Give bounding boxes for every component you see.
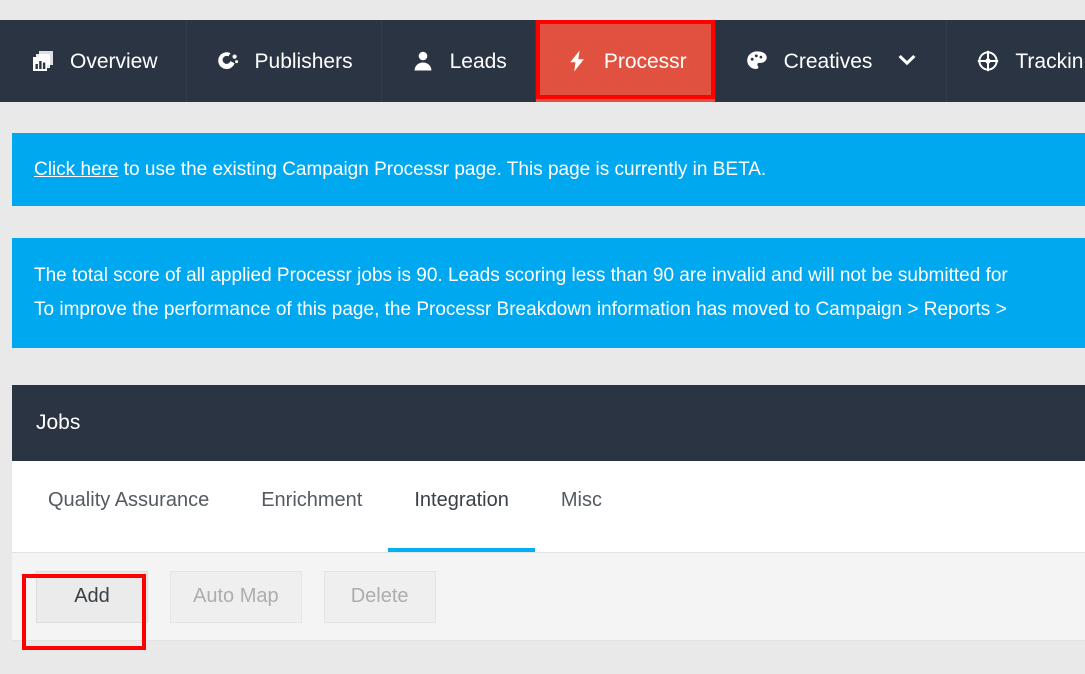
nav-item-overview[interactable]: Overview xyxy=(0,20,187,102)
tab-misc[interactable]: Misc xyxy=(535,461,628,552)
delete-button[interactable]: Delete xyxy=(324,571,436,623)
chevron-down-icon[interactable] xyxy=(896,54,918,68)
tab-label: Integration xyxy=(414,489,509,511)
nav-item-label: Trackin xyxy=(1015,51,1083,72)
nav-item-label: Publishers xyxy=(255,51,353,72)
score-notice-line-2: To improve the performance of this page,… xyxy=(34,298,1075,322)
crosshair-target-icon xyxy=(975,48,1001,74)
jobs-toolbar: Add Auto Map Delete xyxy=(12,553,1085,641)
nav-item-creatives[interactable]: Creatives xyxy=(716,20,948,102)
nav-item-publishers[interactable]: Publishers xyxy=(187,20,382,102)
person-icon xyxy=(410,48,436,74)
jobs-tab-bar: Quality Assurance Enrichment Integration… xyxy=(12,461,1085,553)
nav-item-label: Creatives xyxy=(784,51,873,72)
click-here-link[interactable]: Click here xyxy=(34,159,118,180)
lightning-bolt-icon xyxy=(564,48,590,74)
jobs-panel: Jobs Quality Assurance Enrichment Integr… xyxy=(12,385,1085,641)
auto-map-button[interactable]: Auto Map xyxy=(170,571,302,623)
nav-item-tracking[interactable]: Trackin xyxy=(947,20,1085,102)
tab-label: Enrichment xyxy=(261,489,362,511)
jobs-panel-header: Jobs xyxy=(12,385,1085,461)
main-navigation-bar: Overview Publishers Leads Processr xyxy=(0,20,1085,102)
nav-item-label: Processr xyxy=(604,51,687,72)
tab-enrichment[interactable]: Enrichment xyxy=(235,461,388,552)
beta-notice-rest: to use the existing Campaign Processr pa… xyxy=(118,159,766,180)
tab-quality-assurance[interactable]: Quality Assurance xyxy=(22,461,235,552)
add-button[interactable]: Add xyxy=(36,571,148,623)
nav-item-label: Overview xyxy=(70,51,158,72)
nav-item-leads[interactable]: Leads xyxy=(382,20,536,102)
score-notice-banner: The total score of all applied Processr … xyxy=(12,238,1085,348)
tab-label: Quality Assurance xyxy=(48,489,209,511)
beta-notice-banner: Click here to use the existing Campaign … xyxy=(12,133,1085,206)
score-notice-line-1: The total score of all applied Processr … xyxy=(34,264,1075,288)
tab-label: Misc xyxy=(561,489,602,511)
beta-notice-text: Click here to use the existing Campaign … xyxy=(34,158,1075,182)
panel-title: Jobs xyxy=(36,411,80,435)
palette-icon xyxy=(744,48,770,74)
nav-item-label: Leads xyxy=(450,51,507,72)
bar-chart-stack-icon xyxy=(30,48,56,74)
magnet-icon xyxy=(215,48,241,74)
tab-integration[interactable]: Integration xyxy=(388,461,535,552)
nav-item-processr[interactable]: Processr xyxy=(536,20,716,102)
